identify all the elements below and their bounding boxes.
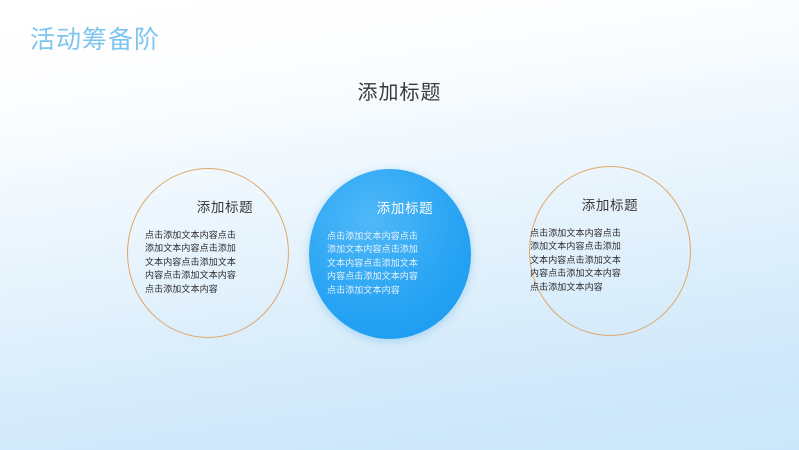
slide-header-title: 活动筹备阶 [30,26,160,55]
circle-body-center: 点击添加文本内容点击 添加文本内容点击添加 文本内容点击添加文本 内容点击添加文… [320,230,490,297]
body-line: 点击添加文本内容 [530,281,695,294]
circle-body-left: 点击添加文本内容点击 添加文本内容点击添加 文本内容点击添加文本 内容点击添加文… [140,229,310,296]
circle-heading-left: 添加标题 [140,196,310,216]
circle-heading-right: 添加标题 [525,194,695,214]
circle-text-center: 添加标题 点击添加文本内容点击 添加文本内容点击添加 文本内容点击添加文本 内容… [320,197,490,297]
body-line: 添加文本内容点击添加 [145,242,310,255]
body-line: 内容点击添加文本内容 [145,269,310,282]
circle-body-right: 点击添加文本内容点击 添加文本内容点击添加 文本内容点击添加文本 内容点击添加文… [525,227,695,294]
body-line: 点击添加文本内容点击 [327,230,490,243]
page-title: 添加标题 [0,76,799,105]
circle-heading-center: 添加标题 [320,197,490,217]
body-line: 文本内容点击添加文本 [530,254,695,267]
body-line: 点击添加文本内容点击 [145,229,310,242]
body-line: 文本内容点击添加文本 [327,257,490,270]
slide-canvas: 活动筹备阶 添加标题 添加标题 点击添加文本内容点击 添加文本内容点击添加 文本… [0,0,799,450]
body-line: 点击添加文本内容 [327,284,490,297]
body-line: 点击添加文本内容 [145,283,310,296]
body-line: 点击添加文本内容点击 [530,227,695,240]
circle-text-left: 添加标题 点击添加文本内容点击 添加文本内容点击添加 文本内容点击添加文本 内容… [140,196,310,296]
circle-text-right: 添加标题 点击添加文本内容点击 添加文本内容点击添加 文本内容点击添加文本 内容… [525,194,695,294]
body-line: 添加文本内容点击添加 [530,240,695,253]
body-line: 内容点击添加文本内容 [327,270,490,283]
body-line: 文本内容点击添加文本 [145,256,310,269]
body-line: 添加文本内容点击添加 [327,243,490,256]
body-line: 内容点击添加文本内容 [530,267,695,280]
